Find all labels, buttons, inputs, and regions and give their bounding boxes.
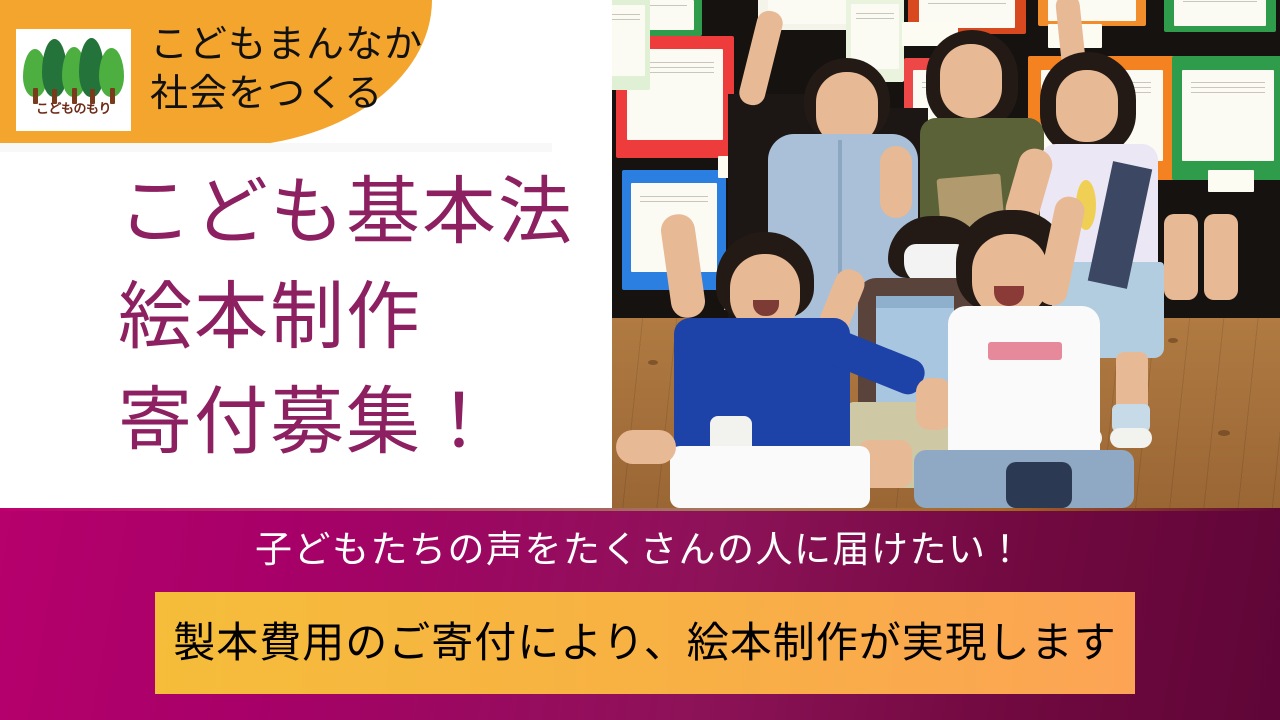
banner-callout-box: 製本費用のご寄付により、絵本制作が実現します xyxy=(155,592,1135,694)
wall-poster xyxy=(1172,56,1280,180)
page-title-line-3: 寄付募集！ xyxy=(118,370,574,475)
children-group-photo xyxy=(608,0,1280,508)
kodomonomori-logo: こどものもり xyxy=(16,29,131,131)
header-slogan: こどもまんなか 社会をつくる xyxy=(150,20,423,117)
wall-poster xyxy=(1038,0,1146,26)
page-title-line-1: こども基本法 xyxy=(118,160,574,265)
poster-name-tag xyxy=(1208,170,1254,192)
header-divider-strip xyxy=(0,143,552,152)
header-slogan-line-1: こどもまんなか xyxy=(150,20,423,69)
banner-callout-text: 製本費用のご寄付により、絵本制作が実現します xyxy=(173,622,1116,664)
banner-headline: 子どもたちの声をたくさんの人に届けたい！ xyxy=(0,530,1280,571)
page-title: こども基本法 絵本制作 寄付募集！ xyxy=(118,160,574,475)
header-slogan-line-2: 社会をつくる xyxy=(150,69,423,118)
page-title-line-2: 絵本制作 xyxy=(118,265,574,370)
donation-poster: こどものもり こどもまんなか 社会をつくる こども基本法 絵本制作 寄付募集！ xyxy=(0,0,1280,720)
wall-poster xyxy=(1164,0,1276,32)
banner-top-rule xyxy=(0,508,1280,511)
wall-poster xyxy=(608,0,650,90)
five-trees-logo xyxy=(21,33,127,105)
